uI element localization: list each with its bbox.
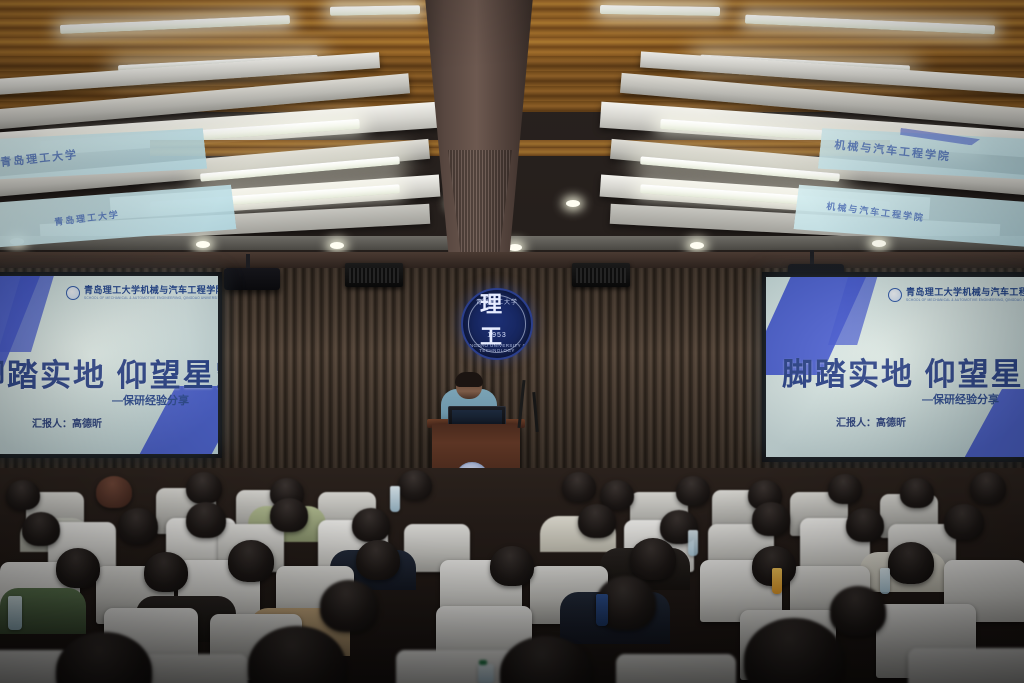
stage-header-beam: [0, 252, 1024, 268]
ceiling-light-strip: [330, 5, 420, 16]
slide-org-cn: 青岛理工大学机械与汽车工程学院: [84, 286, 218, 295]
water-bottle: [880, 568, 890, 594]
projection-screen-right[interactable]: 青岛理工大学机械与汽车工程学院 SCHOOL OF MECHANICAL & A…: [766, 277, 1024, 457]
downlight: [330, 242, 344, 249]
downlight: [196, 241, 210, 248]
slide-org-cn: 青岛理工大学机械与汽车工程学院: [906, 288, 1024, 297]
audience-head: [352, 508, 390, 542]
water-bottle-blue: [596, 594, 608, 626]
slide-subtitle-left: —保研经验分享: [112, 392, 189, 408]
audience-head: [944, 504, 984, 540]
lecture-hall-photo: 青岛理工大学 青岛理工大学 机械与汽车工程学院 机械与汽车工程学院 青岛理工大学…: [0, 0, 1024, 683]
audience-head: [6, 480, 40, 510]
audience-head: [828, 474, 862, 504]
audience-area: [0, 468, 1024, 683]
projection-screen-left[interactable]: 青岛理工大学机械与汽车工程学院 SCHOOL OF MECHANICAL & A…: [0, 276, 218, 454]
slide-title-left: 脚踏实地 仰望星空: [0, 350, 218, 395]
audience-head: [676, 476, 710, 506]
audience-head: [228, 540, 274, 582]
banner-left-text: 青岛理工大学: [0, 146, 79, 170]
chair: [908, 648, 1024, 683]
slide-subtitle-right: —保研经验分享: [922, 391, 999, 407]
university-logo-icon: [66, 286, 80, 300]
presenter-hair: [455, 372, 483, 387]
downlight: [690, 242, 704, 249]
university-emblem: 青岛理工大学 理工 1953 QINGDAO UNIVERSITY OF TEC…: [461, 288, 533, 360]
ceiling-speaker-right: [572, 263, 630, 287]
audience-head: [578, 504, 616, 538]
projector-left: [224, 268, 280, 290]
audience-head: [186, 502, 226, 538]
slide-org-en: SCHOOL OF MECHANICAL & AUTOMOTIVE ENGINE…: [84, 296, 218, 300]
chair: [396, 650, 516, 683]
emblem-year: 1953: [463, 332, 531, 339]
banner-left-lower-text: 青岛理工大学: [53, 207, 120, 228]
audience-head: [320, 580, 378, 632]
banner-right-lower-text: 机械与汽车工程学院: [826, 199, 926, 224]
projector-mount-arm: [810, 250, 814, 264]
water-bottle: [390, 486, 400, 512]
chair: [616, 654, 736, 683]
audience-head: [846, 508, 884, 542]
ceiling-speaker-left: [345, 263, 403, 287]
audience-head: [630, 538, 676, 580]
water-bottle: [8, 596, 22, 630]
audience-head: [56, 548, 100, 588]
slide-title-right: 脚踏实地 仰望星空: [782, 349, 1024, 394]
audience-head: [562, 472, 596, 502]
downlight: [872, 240, 886, 247]
water-bottle-green-cap: [478, 664, 494, 683]
audience-head: [900, 478, 934, 508]
audience-head: [752, 502, 790, 536]
slide-presenter-right: 汇报人：高德昕: [836, 414, 906, 429]
water-bottle-orange: [772, 568, 782, 594]
slide-presenter-left: 汇报人：高德昕: [32, 415, 102, 430]
banner-right-text: 机械与汽车工程学院: [834, 136, 952, 164]
university-logo-icon: [888, 288, 902, 302]
audience-head: [96, 476, 132, 508]
audience-head: [398, 470, 432, 500]
audience-head: [888, 542, 934, 584]
slide-logo-right: 青岛理工大学机械与汽车工程学院 SCHOOL OF MECHANICAL & A…: [888, 288, 1024, 302]
audience-head: [144, 552, 188, 592]
audience-head: [490, 546, 534, 586]
ceiling: 青岛理工大学 青岛理工大学 机械与汽车工程学院 机械与汽车工程学院: [0, 0, 1024, 268]
projector-mount-arm: [246, 254, 250, 268]
audience-head: [118, 508, 158, 544]
water-bottle: [688, 530, 698, 556]
audience-head: [22, 512, 60, 546]
audience-head: [186, 472, 222, 504]
audience-head: [356, 540, 400, 580]
downlight: [566, 200, 580, 207]
emblem-glyph: 理工: [480, 288, 514, 351]
audience-head: [970, 472, 1006, 504]
audience-head: [270, 498, 308, 532]
audience-head: [830, 586, 886, 636]
emblem-en-text: QINGDAO UNIVERSITY OF TECHNOLOGY: [463, 343, 531, 353]
slide-logo-left: 青岛理工大学机械与汽车工程学院 SCHOOL OF MECHANICAL & A…: [66, 286, 218, 300]
slide-org-en: SCHOOL OF MECHANICAL & AUTOMOTIVE ENGINE…: [906, 298, 1024, 302]
